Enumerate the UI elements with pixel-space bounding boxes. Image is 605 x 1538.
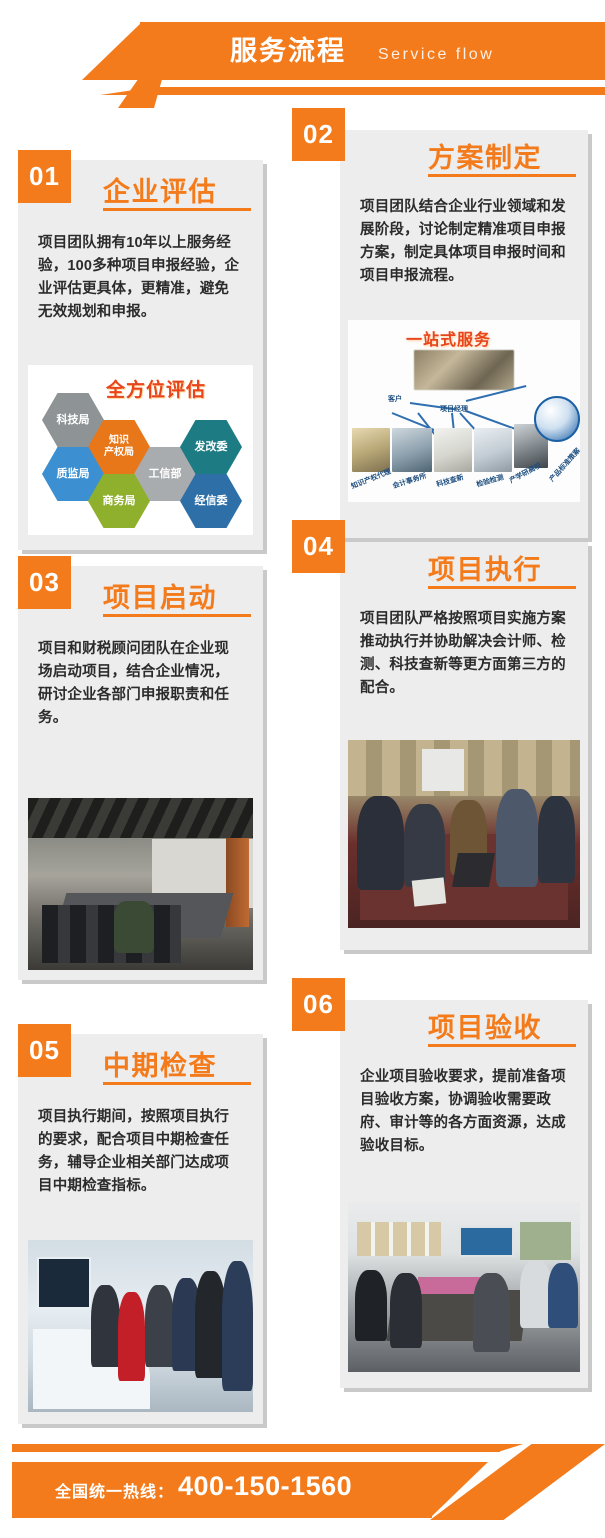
service-flow-infographic: 服务流程 Service flow 01 企业评估 项目团队拥有10年以上服务经… — [0, 0, 605, 1538]
step-description: 项目团队严格按照项目实施方案推动执行并协助解决会计师、检测、科技查新等更方面第三… — [360, 608, 570, 700]
page-header: 服务流程 Service flow — [0, 0, 605, 105]
oss-tile-1 — [352, 428, 390, 472]
step-description: 企业项目验收要求，提前准备项目验收方案，协调验收需要政府、审计等的各方面资源，达… — [360, 1066, 570, 1158]
photo-person-2 — [390, 1273, 422, 1348]
photo-papers — [412, 877, 447, 907]
photo-flowers — [418, 1277, 483, 1294]
photo-laptop — [452, 853, 495, 887]
step-card-06: 06 项目验收 企业项目验收要求，提前准备项目验收方案，协调验收需要政府、审计等… — [340, 1000, 588, 1388]
oss-node-4: 检验检测 — [475, 472, 505, 489]
meeting-laptops-photo — [348, 740, 580, 928]
hex-caption: 全方位评估 — [106, 375, 206, 402]
step-card-01: 01 企业评估 项目团队拥有10年以上服务经验，100多种项目申报经验，企业评估… — [18, 160, 263, 550]
step-title: 项目执行 — [428, 548, 542, 587]
photo-certificates-wall — [357, 1222, 441, 1256]
oss-node-3: 科技查新 — [435, 472, 465, 489]
photo-wall-panel — [422, 749, 464, 790]
step-number-badge: 03 — [18, 556, 71, 609]
step-description: 项目执行期间，按照项目执行的要求，配合项目中期检查任务，辅导企业相关部门达成项目… — [38, 1106, 243, 1198]
step-description: 项目团队拥有10年以上服务经验，100多种项目申报经验，企业评估更具体，更精准，… — [38, 232, 243, 324]
title-underline — [103, 1082, 251, 1085]
step-title: 企业评估 — [103, 170, 217, 209]
step-title: 中期检查 — [103, 1044, 217, 1083]
photo-person-4 — [496, 789, 538, 887]
photo-person-2 — [145, 1285, 174, 1368]
step-title: 方案制定 — [428, 136, 542, 175]
step-card-03: 03 项目启动 项目和财税顾问团队在企业现场启动项目，结合企业情况，研讨企业各部… — [18, 566, 263, 980]
photo-display-screen — [37, 1257, 91, 1309]
step-number-badge: 05 — [18, 1024, 71, 1077]
photo-person-1 — [91, 1285, 120, 1368]
photo-whiteboard — [520, 1222, 571, 1259]
header-banner — [140, 22, 605, 80]
title-underline — [428, 174, 576, 177]
photo-wood-panel — [226, 838, 249, 927]
page-subtitle: Service flow — [378, 41, 494, 69]
photo-person-5 — [548, 1263, 578, 1328]
page-title: 服务流程 — [230, 30, 346, 72]
step-card-05: 05 中期检查 项目执行期间，按照项目执行的要求，配合项目中期检查任务，辅导企业… — [18, 1034, 263, 1424]
step-title: 项目启动 — [103, 576, 217, 615]
page-footer: 全国统一热线： 400-150-1560 — [0, 1418, 605, 1538]
conference-room-photo — [28, 798, 253, 970]
step-description: 项目和财税顾问团队在企业现场启动项目，结合企业情况，研讨企业各部门申报职责和任务… — [38, 638, 243, 730]
step-card-04: 04 项目执行 项目团队严格按照项目实施方案推动执行并协助解决会计师、检测、科技… — [340, 542, 588, 950]
lobby-visit-photo — [28, 1240, 253, 1412]
oss-center-label: 项目经理 — [440, 404, 468, 414]
oss-node-2: 会计事务所 — [391, 471, 427, 491]
hotline-number[interactable]: 400-150-1560 — [178, 1471, 352, 1502]
oss-team-photo — [414, 350, 514, 390]
hexagon-assessment-diagram: 全方位评估 科技局 知识 产权局 质监局 工信部 发改委 商务局 经信委 — [28, 365, 253, 535]
photo-person-1 — [355, 1270, 387, 1341]
photo-person-5 — [222, 1261, 254, 1392]
header-stripe-decoration — [152, 87, 605, 95]
photo-ceiling — [28, 798, 253, 838]
step-description: 项目团队结合企业行业领域和发展阶段，讨论制定精准项目申报方案，制定具体项目申报时… — [360, 196, 570, 288]
acceptance-meeting-photo — [348, 1202, 580, 1372]
one-stop-service-diagram: 一站式服务 客户 项目经理 知识产权代理 会计事务所 科技查新 检验检测 — [348, 320, 580, 502]
photo-person-2 — [404, 804, 446, 887]
photo-person-1 — [357, 796, 403, 890]
photo-person-3 — [473, 1273, 510, 1351]
oss-iso-badge — [534, 396, 580, 442]
step-card-02: 02 方案制定 项目团队结合企业行业领域和发展阶段，讨论制定精准项目申报方案，制… — [340, 130, 588, 538]
step-number-badge: 06 — [292, 978, 345, 1031]
oss-node-6: 产品标准策案 — [547, 446, 580, 484]
oss-tile-4 — [474, 428, 512, 472]
photo-person — [114, 901, 155, 953]
photo-projector-screen — [459, 1226, 514, 1257]
photo-chairs — [42, 905, 182, 963]
step-number-badge: 01 — [18, 150, 71, 203]
oss-tile-2 — [392, 428, 432, 472]
photo-curtain — [348, 740, 580, 796]
oss-tile-3 — [434, 428, 472, 472]
title-underline — [103, 208, 251, 211]
title-underline — [103, 614, 251, 617]
footer-stripe-decoration — [12, 1444, 500, 1452]
title-underline — [428, 1044, 576, 1047]
photo-person-5 — [538, 796, 575, 882]
step-number-badge: 02 — [292, 108, 345, 161]
title-underline — [428, 586, 576, 589]
oss-caption: 一站式服务 — [406, 326, 491, 350]
step-title: 项目验收 — [428, 1006, 542, 1045]
hotline-label: 全国统一热线： — [55, 1478, 174, 1502]
photo-person-red-coat — [118, 1292, 145, 1381]
step-number-badge: 04 — [292, 520, 345, 573]
oss-client-label: 客户 — [388, 394, 402, 404]
